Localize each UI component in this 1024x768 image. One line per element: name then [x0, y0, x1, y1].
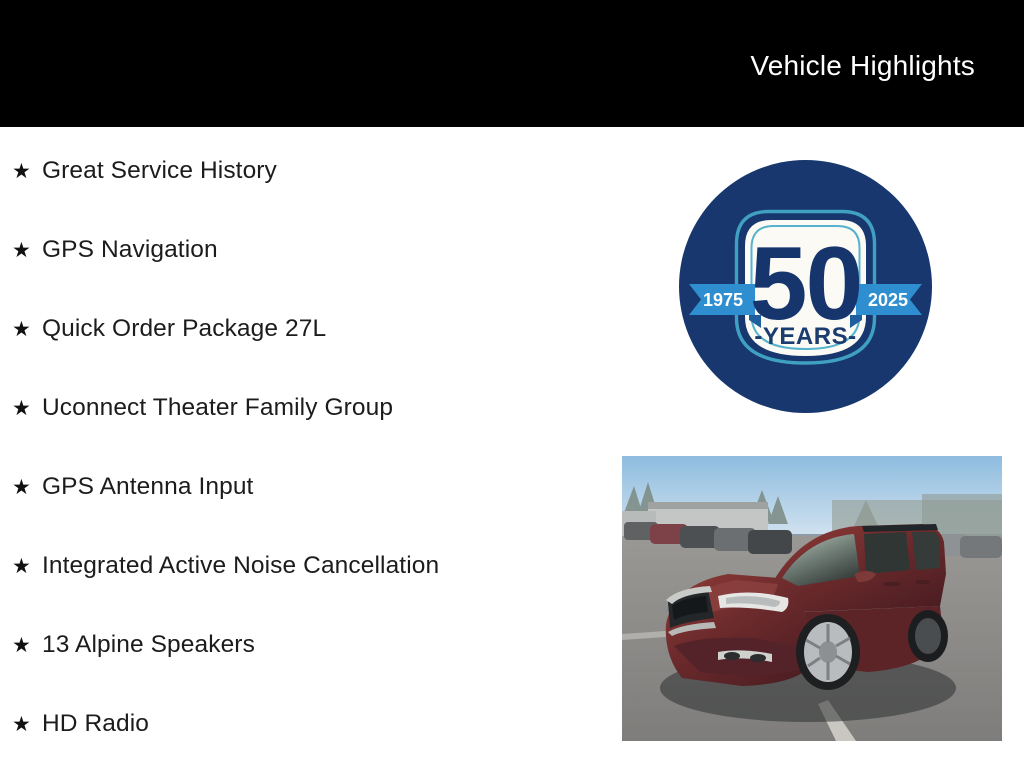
- list-item-label: Integrated Active Noise Cancellation: [42, 554, 439, 579]
- list-item-label: Quick Order Package 27L: [42, 317, 326, 342]
- list-item-label: HD Radio: [42, 712, 149, 737]
- star-bullet-icon: ★: [12, 398, 42, 419]
- list-item: ★ Great Service History: [12, 159, 277, 184]
- list-item: ★ Uconnect Theater Family Group: [12, 396, 393, 421]
- list-item: ★ GPS Navigation: [12, 238, 218, 263]
- star-bullet-icon: ★: [12, 161, 42, 182]
- list-item-label: Uconnect Theater Family Group: [42, 396, 393, 421]
- star-bullet-icon: ★: [12, 477, 42, 498]
- anniversary-badge: 1975 2025 50 -YEARS-: [679, 160, 932, 413]
- page-title: Vehicle Highlights: [750, 50, 975, 82]
- photo-front-wheel: [796, 614, 860, 690]
- list-item: ★ Quick Order Package 27L: [12, 317, 326, 342]
- star-bullet-icon: ★: [12, 240, 42, 261]
- list-item: ★ Integrated Active Noise Cancellation: [12, 554, 439, 579]
- star-bullet-icon: ★: [12, 635, 42, 656]
- badge-caption-text: -YEARS-: [754, 323, 856, 350]
- list-item: ★ GPS Antenna Input: [12, 475, 253, 500]
- star-bullet-icon: ★: [12, 319, 42, 340]
- list-item: ★ 13 Alpine Speakers: [12, 633, 255, 658]
- badge-year-end-text: 2025: [868, 290, 908, 310]
- badge-year-start-text: 1975: [703, 290, 743, 310]
- list-item-label: 13 Alpine Speakers: [42, 633, 255, 658]
- list-item-label: Great Service History: [42, 159, 277, 184]
- list-item-label: GPS Navigation: [42, 238, 218, 263]
- photo-rear-wheel: [908, 610, 948, 662]
- list-item: ★ HD Radio: [12, 712, 149, 737]
- slide-root: Vehicle Highlights ★ Great Service Histo…: [0, 0, 1024, 768]
- header-band: Vehicle Highlights: [0, 0, 1024, 127]
- star-bullet-icon: ★: [12, 714, 42, 735]
- vehicle-photo: [622, 456, 1002, 741]
- vehicle-highlights-list: ★ Great Service History ★ GPS Navigation…: [0, 127, 600, 768]
- star-bullet-icon: ★: [12, 556, 42, 577]
- list-item-label: GPS Antenna Input: [42, 475, 253, 500]
